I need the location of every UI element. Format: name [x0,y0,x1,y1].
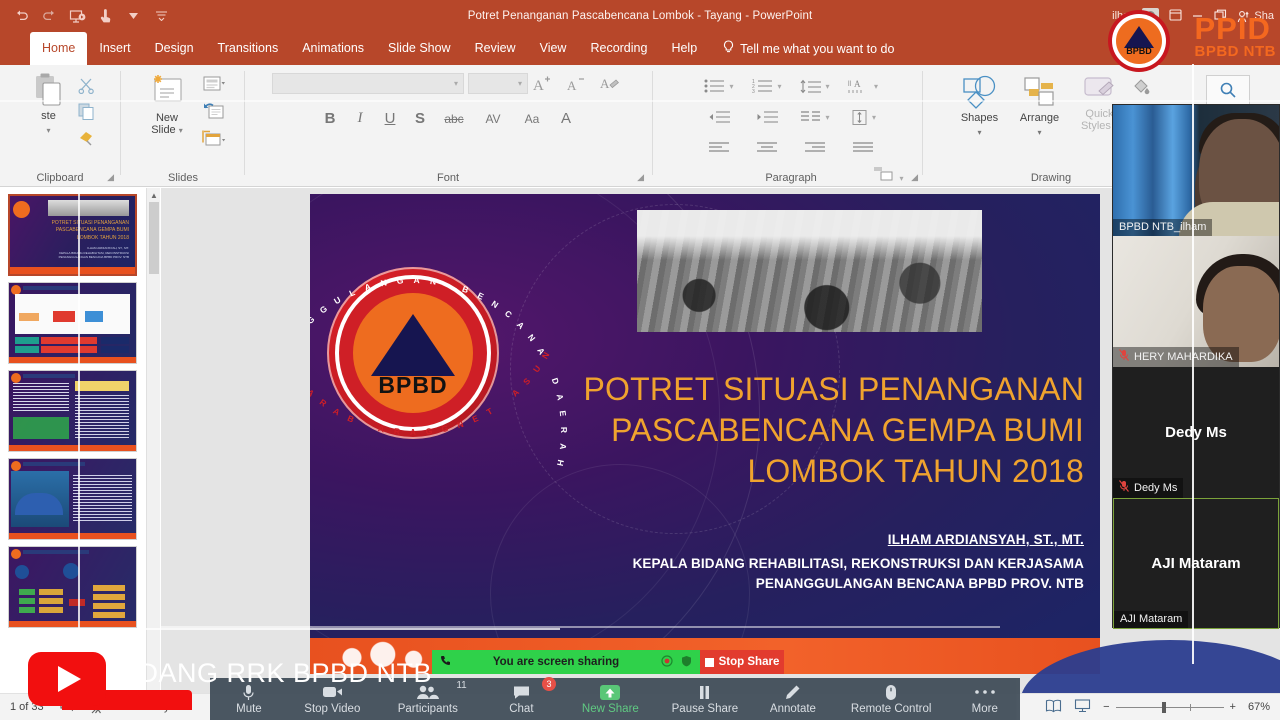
font-dialog-launcher[interactable]: ◢ [637,172,644,183]
group-divider [120,71,121,175]
tell-me-search[interactable]: Tell me what you want to do [723,32,894,65]
line-spacing-button[interactable]: ▾ [791,75,839,97]
tab-help[interactable]: Help [659,32,709,65]
bullets-button[interactable]: ▾ [695,75,743,97]
zoom-track[interactable] [1116,707,1224,708]
group-label-paragraph: Paragraph [660,172,922,184]
decrease-font-size-button[interactable]: A [560,74,590,93]
annotation-line [78,188,80,648]
participant-name-label: Dedy Ms [1134,482,1177,494]
shapes-icon [960,75,1000,109]
ribbon-content: ste ▾ Clipboard ◢ [0,65,1280,187]
copy-icon[interactable] [78,103,95,120]
up-arrow-icon [598,684,622,701]
ribbon-group-slides: New Slide ▾ Slides [122,65,244,187]
participant-name: BPBD NTB_ilham [1113,219,1212,236]
svg-text:A: A [567,78,577,93]
quick-styles-label-line1: Quick [1085,108,1113,120]
group-divider [244,71,245,175]
svg-text:A: A [600,76,610,91]
header-photo-strip [637,210,982,332]
remote-control-label: Remote Control [851,703,932,715]
annotation-line [160,626,1000,628]
video-tile[interactable]: HERY MAHARDIKA [1113,236,1279,367]
tab-recording[interactable]: Recording [578,32,659,65]
zoom-out-button[interactable]: − [1103,701,1109,713]
change-case-button[interactable]: Aa [520,112,544,126]
paste-label: ste [41,110,56,123]
align-left-button[interactable] [695,137,743,159]
search-icon [1219,81,1237,99]
lightbulb-icon [723,40,734,57]
logo-ring-text-bottom: NUSA TENGGARA BARAT [327,267,499,439]
align-right-button[interactable] [791,137,839,159]
slideshow-icon[interactable] [1074,698,1091,716]
character-spacing-button[interactable]: AV [480,112,506,126]
scrollbar-thumb[interactable] [149,202,159,274]
zoom-video-panel[interactable]: BPBD NTB_ilham HERY MAHARDIKA Dedy Ms De… [1112,104,1280,628]
touch-mode-icon[interactable] [92,4,118,28]
tab-view[interactable]: View [528,32,579,65]
minimize-icon[interactable] [1192,10,1204,23]
tab-design[interactable]: Design [143,32,206,65]
numbering-button[interactable]: 123 ▾ [743,75,791,97]
sharing-status: You are screen sharing [432,650,700,674]
window-title: Potret Penanganan Pascabencana Lombok - … [0,10,1280,22]
annotation-line [0,628,560,630]
new-slide-icon [149,73,185,109]
annotate-label: Annotate [770,703,816,715]
text-direction-button[interactable]: llA ▾ [839,75,887,97]
list-item[interactable]: POTRET SITUASI PENANGANANPASCABENCANA GE… [8,194,137,276]
group-label-slides: Slides [122,172,244,184]
zoom-level[interactable]: 67% [1248,701,1270,713]
slide-title[interactable]: POTRET SITUASI PENANGANAN PASCABENCANA G… [524,369,1084,492]
share-button[interactable]: Sha [1237,10,1274,23]
tab-home[interactable]: Home [30,32,87,65]
svg-text:A: A [533,78,544,93]
remote-control-button[interactable]: Remote Control [833,678,950,720]
participant-name: AJI Mataram [1114,611,1188,628]
chevron-down-icon[interactable]: ▾ [874,82,878,91]
participant-name-label: AJI Mataram [1120,613,1182,625]
undo-icon[interactable] [8,4,34,28]
start-presentation-icon[interactable] [64,4,90,28]
video-tile[interactable]: AJI Mataram AJI Mataram [1113,498,1279,629]
format-painter-icon[interactable] [78,129,95,146]
sharing-status-label: You are screen sharing [459,656,653,668]
pencil-icon [784,684,801,701]
video-tile[interactable]: BPBD NTB_ilham [1113,105,1279,236]
scroll-up-arrow-icon[interactable]: ▲ [150,191,158,200]
chevron-down-icon[interactable]: ▾ [872,113,876,122]
zoom-in-button[interactable]: + [1230,701,1236,713]
more-button[interactable]: More [950,678,1020,720]
share-label: Sha [1254,10,1274,22]
chat-label: Chat [509,703,533,715]
zoom-handle[interactable] [1162,702,1166,713]
section-icon[interactable] [202,129,226,146]
presenter-role-line-2: PENANGGULANGAN BENCANA BPBD PROV. NTB [464,574,1084,594]
slide-title-line-3: LOMBOK TAHUN 2018 [524,451,1084,492]
participants-label: Participants [398,703,458,715]
tab-slide-show[interactable]: Slide Show [376,32,463,65]
new-slide-button[interactable]: New Slide ▾ [140,73,194,136]
columns-button[interactable]: ▾ [791,106,839,128]
participant-center-label: AJI Mataram [1114,499,1278,628]
more-label: More [972,703,998,715]
text-shadow-button[interactable]: S [412,110,428,127]
ribbon-group-font: ▾ ▾ A A A B I U S abc AV Aa [246,65,650,187]
participants-count: 11 [456,680,466,691]
bpbd-logo: BPBD BADAN PENANGGULANGAN BENCANA DAERAH… [327,267,499,439]
stop-share-button[interactable]: Stop Share [700,650,784,674]
font-name-input[interactable] [272,73,464,94]
zoom-slider[interactable]: − + [1103,701,1236,713]
list-item[interactable] [8,370,137,452]
strikethrough-button[interactable]: abc [442,112,466,126]
participant-name: Dedy Ms [1113,478,1183,498]
svg-text:3: 3 [752,89,755,93]
arrange-label: Arrange [1020,112,1059,125]
annotation-line [1192,64,1194,664]
stop-square-icon [705,658,714,667]
clipboard-dialog-launcher[interactable]: ◢ [107,172,114,183]
chevron-down-icon[interactable]: ▾ [46,126,50,135]
chevron-down-icon[interactable]: ▾ [1037,128,1041,137]
chevron-down-icon[interactable]: ▾ [179,126,183,135]
new-slide-label-line1: New [156,112,178,124]
youtube-channel-caption: BIDANG RRK BPBD NTB [112,658,432,689]
tab-insert[interactable]: Insert [87,32,142,65]
mute-label: Mute [236,703,262,715]
presenter-name[interactable]: ILHAM ARDIANSYAH, ST., MT. [524,532,1084,547]
shapes-label: Shapes [961,112,998,125]
list-item[interactable] [8,282,137,364]
slide-thumbnail-pane[interactable]: POTRET SITUASI PENANGANANPASCABENCANA GE… [0,188,145,693]
arrange-button[interactable]: Arrange ▾ [1012,75,1068,147]
chevron-down-icon[interactable]: ▾ [777,82,781,91]
slide-title-line-2: PASCABENCANA GEMPA BUMI [524,410,1084,451]
scissors-icon[interactable] [78,77,95,94]
reading-view-icon[interactable] [1045,699,1062,716]
chevron-down-icon[interactable]: ▾ [454,79,458,88]
group-divider [652,71,653,175]
mic-muted-icon [1119,349,1129,364]
phone-icon [440,655,451,669]
arrange-icon [1021,75,1059,109]
mic-muted-icon [1119,480,1129,495]
ribbon-display-options-icon[interactable] [1169,9,1182,24]
account-info[interactable]: ilham [1112,8,1159,25]
video-tile[interactable]: Dedy Ms Dedy Ms [1113,367,1279,498]
record-dot-icon[interactable] [661,655,673,670]
decrease-indent-button[interactable] [695,106,743,128]
ribbon-group-clipboard: ste ▾ Clipboard ◢ [0,65,120,187]
reset-slide-icon[interactable] [202,102,226,119]
annotate-button[interactable]: Annotate [753,678,833,720]
redo-icon[interactable] [36,4,62,28]
slide-editing-surface[interactable]: BPBD BADAN PENANGGULANGAN BENCANA DAERAH… [310,194,1100,674]
ellipsis-icon [974,684,996,701]
chat-badge: 3 [542,677,556,691]
powerpoint-title-bar: Potret Penanganan Pascabencana Lombok - … [0,0,1280,32]
presenter-role[interactable]: KEPALA BIDANG REHABILITASI, REKONSTRUKSI… [464,554,1084,595]
shapes-button[interactable]: Shapes ▾ [952,75,1008,147]
svg-text:ll: ll [848,81,852,88]
list-item[interactable] [8,546,137,628]
align-text-button[interactable]: ▾ [839,106,887,128]
shape-fill-icon[interactable] [1132,78,1151,95]
shield-icon[interactable] [681,655,692,670]
pause-icon [697,684,712,701]
new-share-button[interactable]: New Share [564,678,657,720]
tab-review[interactable]: Review [463,32,528,65]
restore-icon[interactable] [1214,9,1227,24]
tab-transitions[interactable]: Transitions [206,32,291,65]
slide-title-line-1: POTRET SITUASI PENANGANAN [524,369,1084,410]
chevron-down-icon[interactable]: ▾ [977,128,981,137]
new-slide-label-line2: Slide [151,124,175,136]
mouse-icon [885,684,897,701]
ribbon-tab-strip: Home Insert Design Transitions Animation… [0,32,1280,65]
chevron-down-icon[interactable]: ▾ [825,113,829,122]
chevron-down-icon[interactable]: ▾ [518,79,522,88]
chevron-down-icon[interactable]: ▾ [729,82,733,91]
chat-bubble-icon [512,684,531,701]
font-color-button[interactable]: A [558,110,574,127]
stop-share-label: Stop Share [719,656,780,668]
thumbnail-scrollbar[interactable]: ▲ [146,188,160,693]
chevron-down-icon[interactable]: ▾ [825,82,829,91]
italic-button[interactable]: I [352,110,368,127]
increase-font-size-button[interactable]: A [526,74,556,93]
presenter-role-line-1: KEPALA BIDANG REHABILITASI, REKONSTRUKSI… [464,554,1084,574]
chat-button[interactable]: 3 Chat [479,678,564,720]
chevron-down-icon[interactable] [120,4,146,28]
account-name: ilham [1112,10,1138,22]
quick-access-toolbar [0,4,174,28]
quick-styles-label-line2: Styles [1081,120,1111,132]
tab-animations[interactable]: Animations [290,32,376,65]
tell-me-label: Tell me what you want to do [740,42,894,56]
clear-formatting-button[interactable]: A [594,74,624,93]
play-triangle-icon [58,666,81,692]
increase-indent-button[interactable] [743,106,791,128]
avatar [1142,8,1159,25]
participant-name-label: HERY MAHARDIKA [1134,351,1233,363]
customize-qat-icon[interactable] [148,4,174,28]
paste-button[interactable]: ste ▾ [26,73,72,135]
underline-button[interactable]: U [382,110,398,127]
screen-share-status-bar: You are screen sharing Stop Share [432,650,784,674]
svg-text:A: A [854,79,861,89]
pause-share-label: Pause Share [672,703,739,715]
group-label-font: Font [246,172,650,184]
paragraph-dialog-launcher[interactable]: ◢ [911,172,918,183]
align-center-button[interactable] [743,137,791,159]
group-label-clipboard: Clipboard [0,172,120,184]
stop-video-label: Stop Video [304,703,360,715]
participant-name: HERY MAHARDIKA [1113,347,1239,367]
zoom-midpoint-tick [1190,704,1191,711]
group-divider [922,71,923,175]
slide-layout-icon[interactable] [202,76,226,92]
bold-button[interactable]: B [322,110,338,127]
ribbon-group-paragraph: ▾ 123 ▾ ▾ llA ▾ [660,65,922,187]
pause-share-button[interactable]: Pause Share [657,678,753,720]
list-item[interactable] [8,458,137,540]
titlebar-right-controls: ilham Sha [1112,0,1274,32]
annotation-line [0,100,1280,102]
justify-button[interactable] [839,137,887,159]
new-share-label: New Share [582,703,639,715]
youtube-logo [28,652,106,706]
